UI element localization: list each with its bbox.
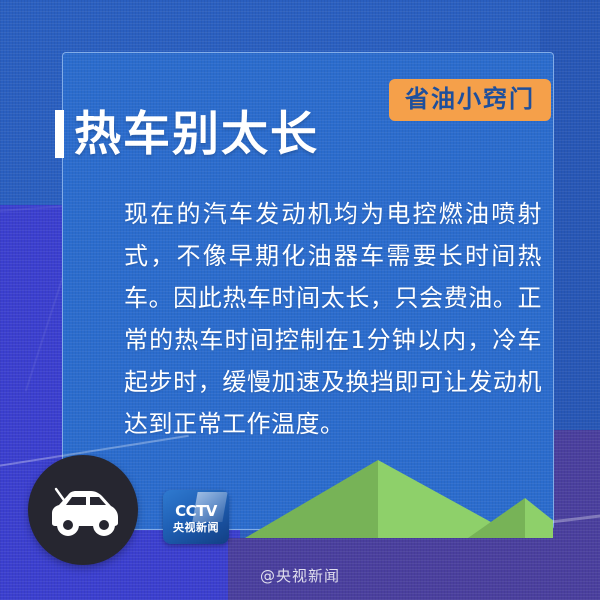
watermark: @央视新闻: [0, 565, 600, 586]
page-title: 热车别太长: [55, 110, 319, 158]
cctv-brand-text: CCTV: [175, 504, 217, 519]
title-accent-bar: [55, 110, 64, 158]
cctv-channel-text: 央视新闻: [173, 522, 219, 533]
car-icon-badge: [28, 455, 138, 565]
body-paragraph: 现在的汽车发动机均为电控燃油喷射式，不像早期化油器车需要长时间热车。因此热车时间…: [124, 193, 542, 445]
infographic-card: 省油小窍门 热车别太长 现在的汽车发动机均为电控燃油喷射式，不像早期化油器车需要…: [0, 0, 600, 600]
mountain-large-left-face: [245, 460, 378, 538]
mountain-small-right-face: [525, 498, 575, 538]
title-text: 热车别太长: [74, 111, 319, 158]
cctv-logo: CCTV 央视新闻: [163, 490, 229, 544]
category-badge: 省油小窍门: [389, 79, 551, 121]
car-icon: [42, 481, 124, 539]
